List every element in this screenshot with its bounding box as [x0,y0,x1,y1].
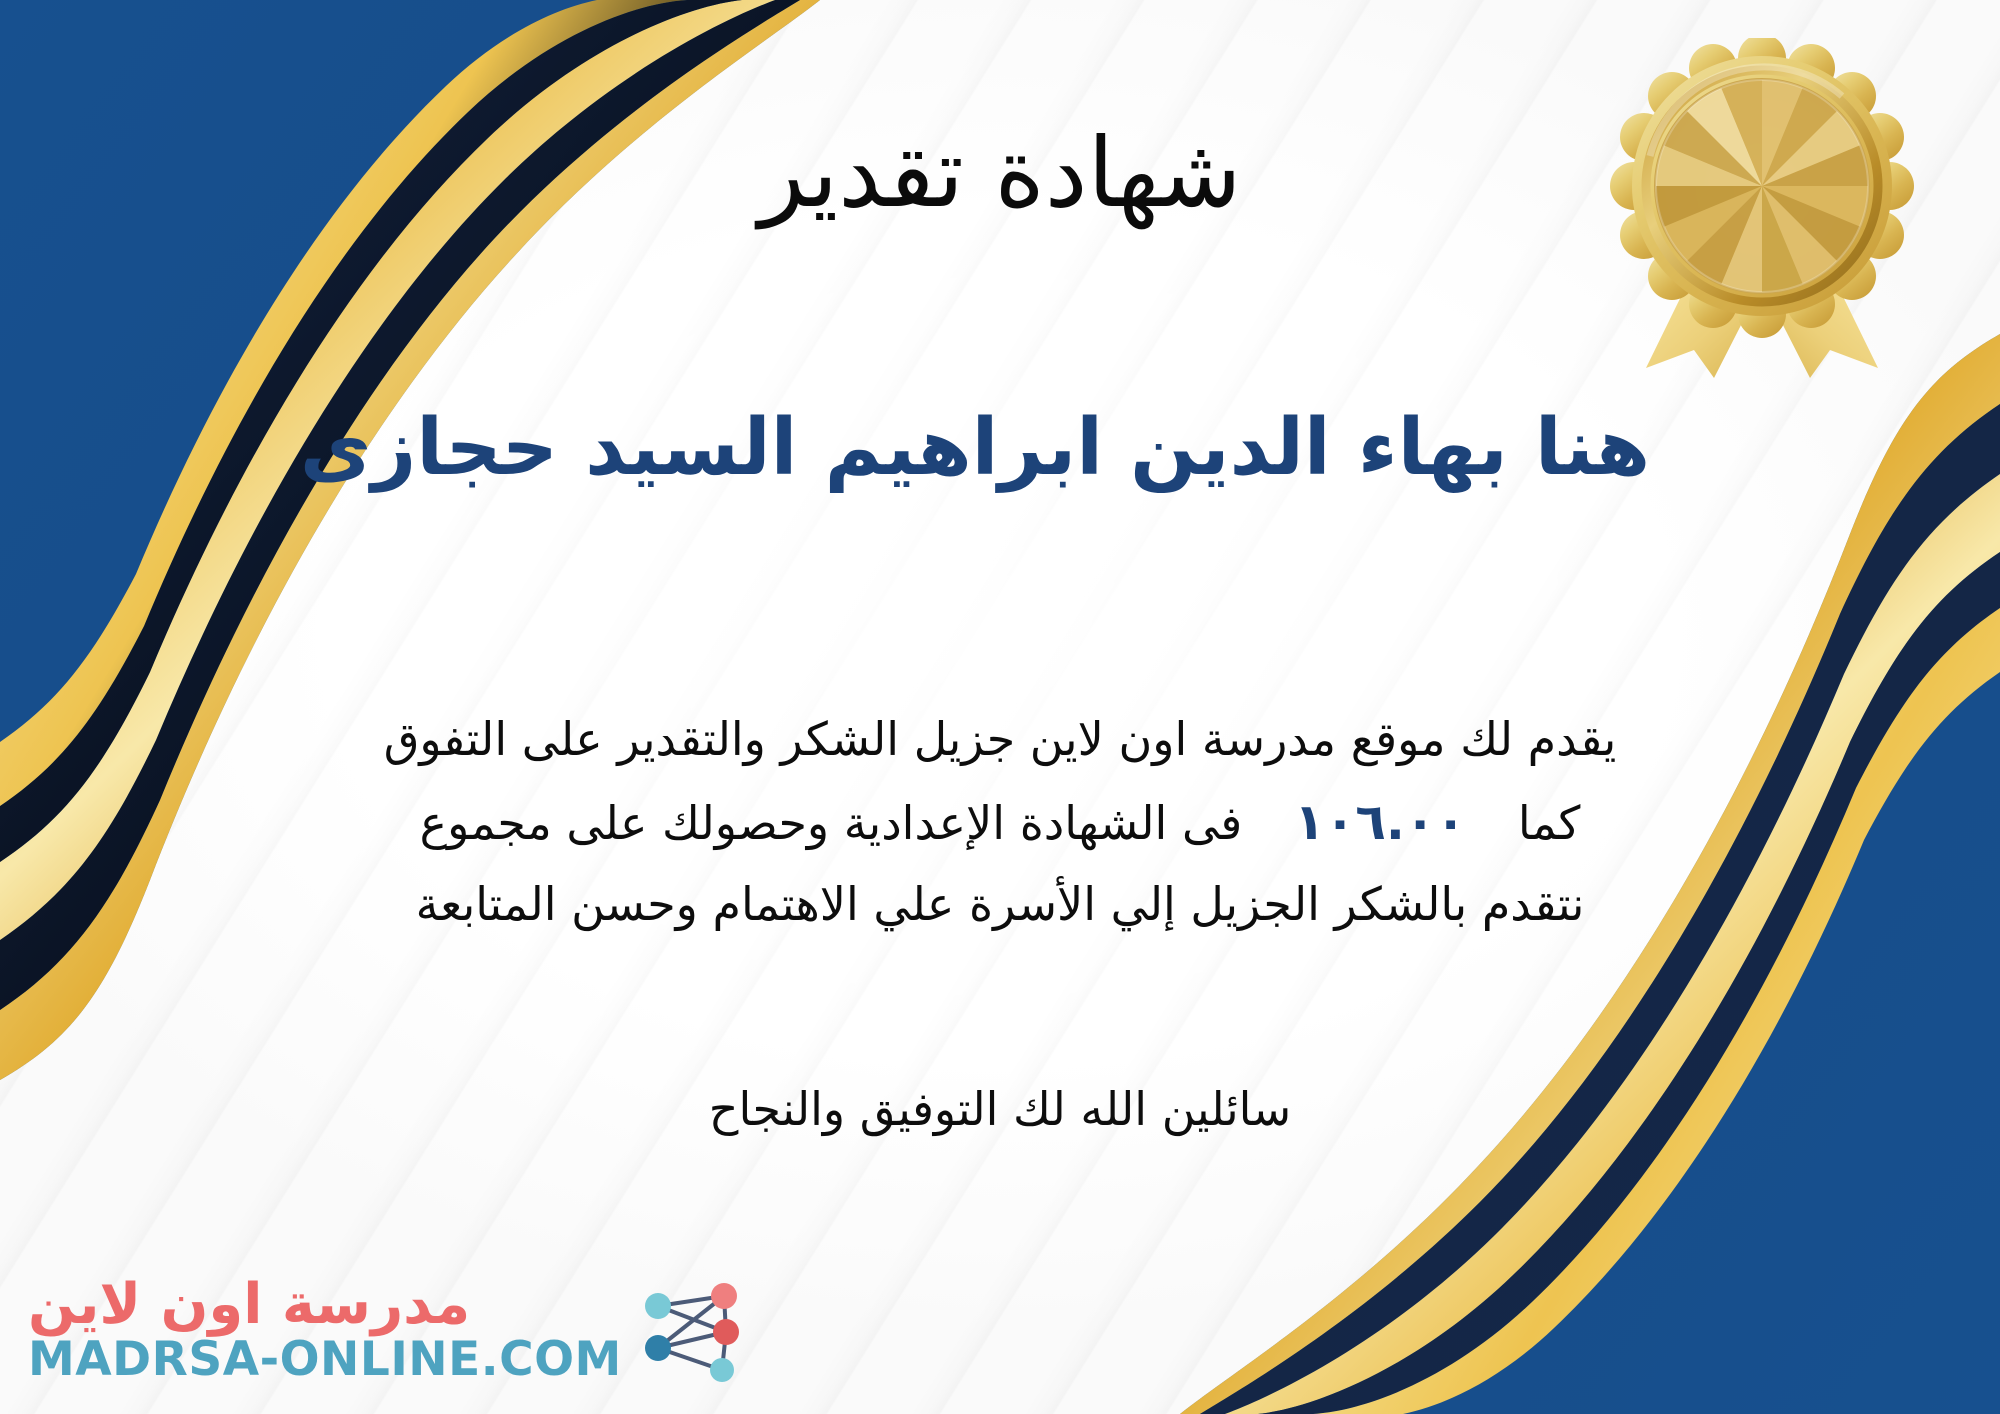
closing-wish: سائلين الله لك التوفيق والنجاح [0,1075,2000,1144]
certificate-body: يقدم لك موقع مدرسة اون لاين جزيل الشكر و… [120,700,1880,944]
body-line-1: يقدم لك موقع مدرسة اون لاين جزيل الشكر و… [120,700,1880,779]
body-line-2-suffix: كما [1518,784,1581,863]
network-nodes-icon [632,1270,752,1390]
brand-logo-text: مدرسة اون لاين MADRSA-ONLINE.COM [28,1276,622,1384]
brand-name-arabic: مدرسة اون لاين [28,1276,470,1335]
total-score-value: ١٠٦.٠٠ [1268,779,1492,865]
gold-rosette-medal-icon [1602,38,1922,378]
body-line-3: نتقدم بالشكر الجزيل إلي الأسرة علي الاهت… [120,865,1880,944]
brand-website-url: MADRSA-ONLINE.COM [28,1335,622,1384]
certificate-page: شهادة تقدير هنا بهاء الدين ابراهيم السيد… [0,0,2000,1414]
brand-logo[interactable]: مدرسة اون لاين MADRSA-ONLINE.COM [28,1270,752,1390]
body-line-2: كما ١٠٦.٠٠ فى الشهادة الإعدادية وحصولك ع… [120,779,1880,865]
body-line-2-prefix: فى الشهادة الإعدادية وحصولك على مجموع [420,784,1243,863]
recipient-name: هنا بهاء الدين ابراهيم السيد حجازى [100,400,1850,498]
